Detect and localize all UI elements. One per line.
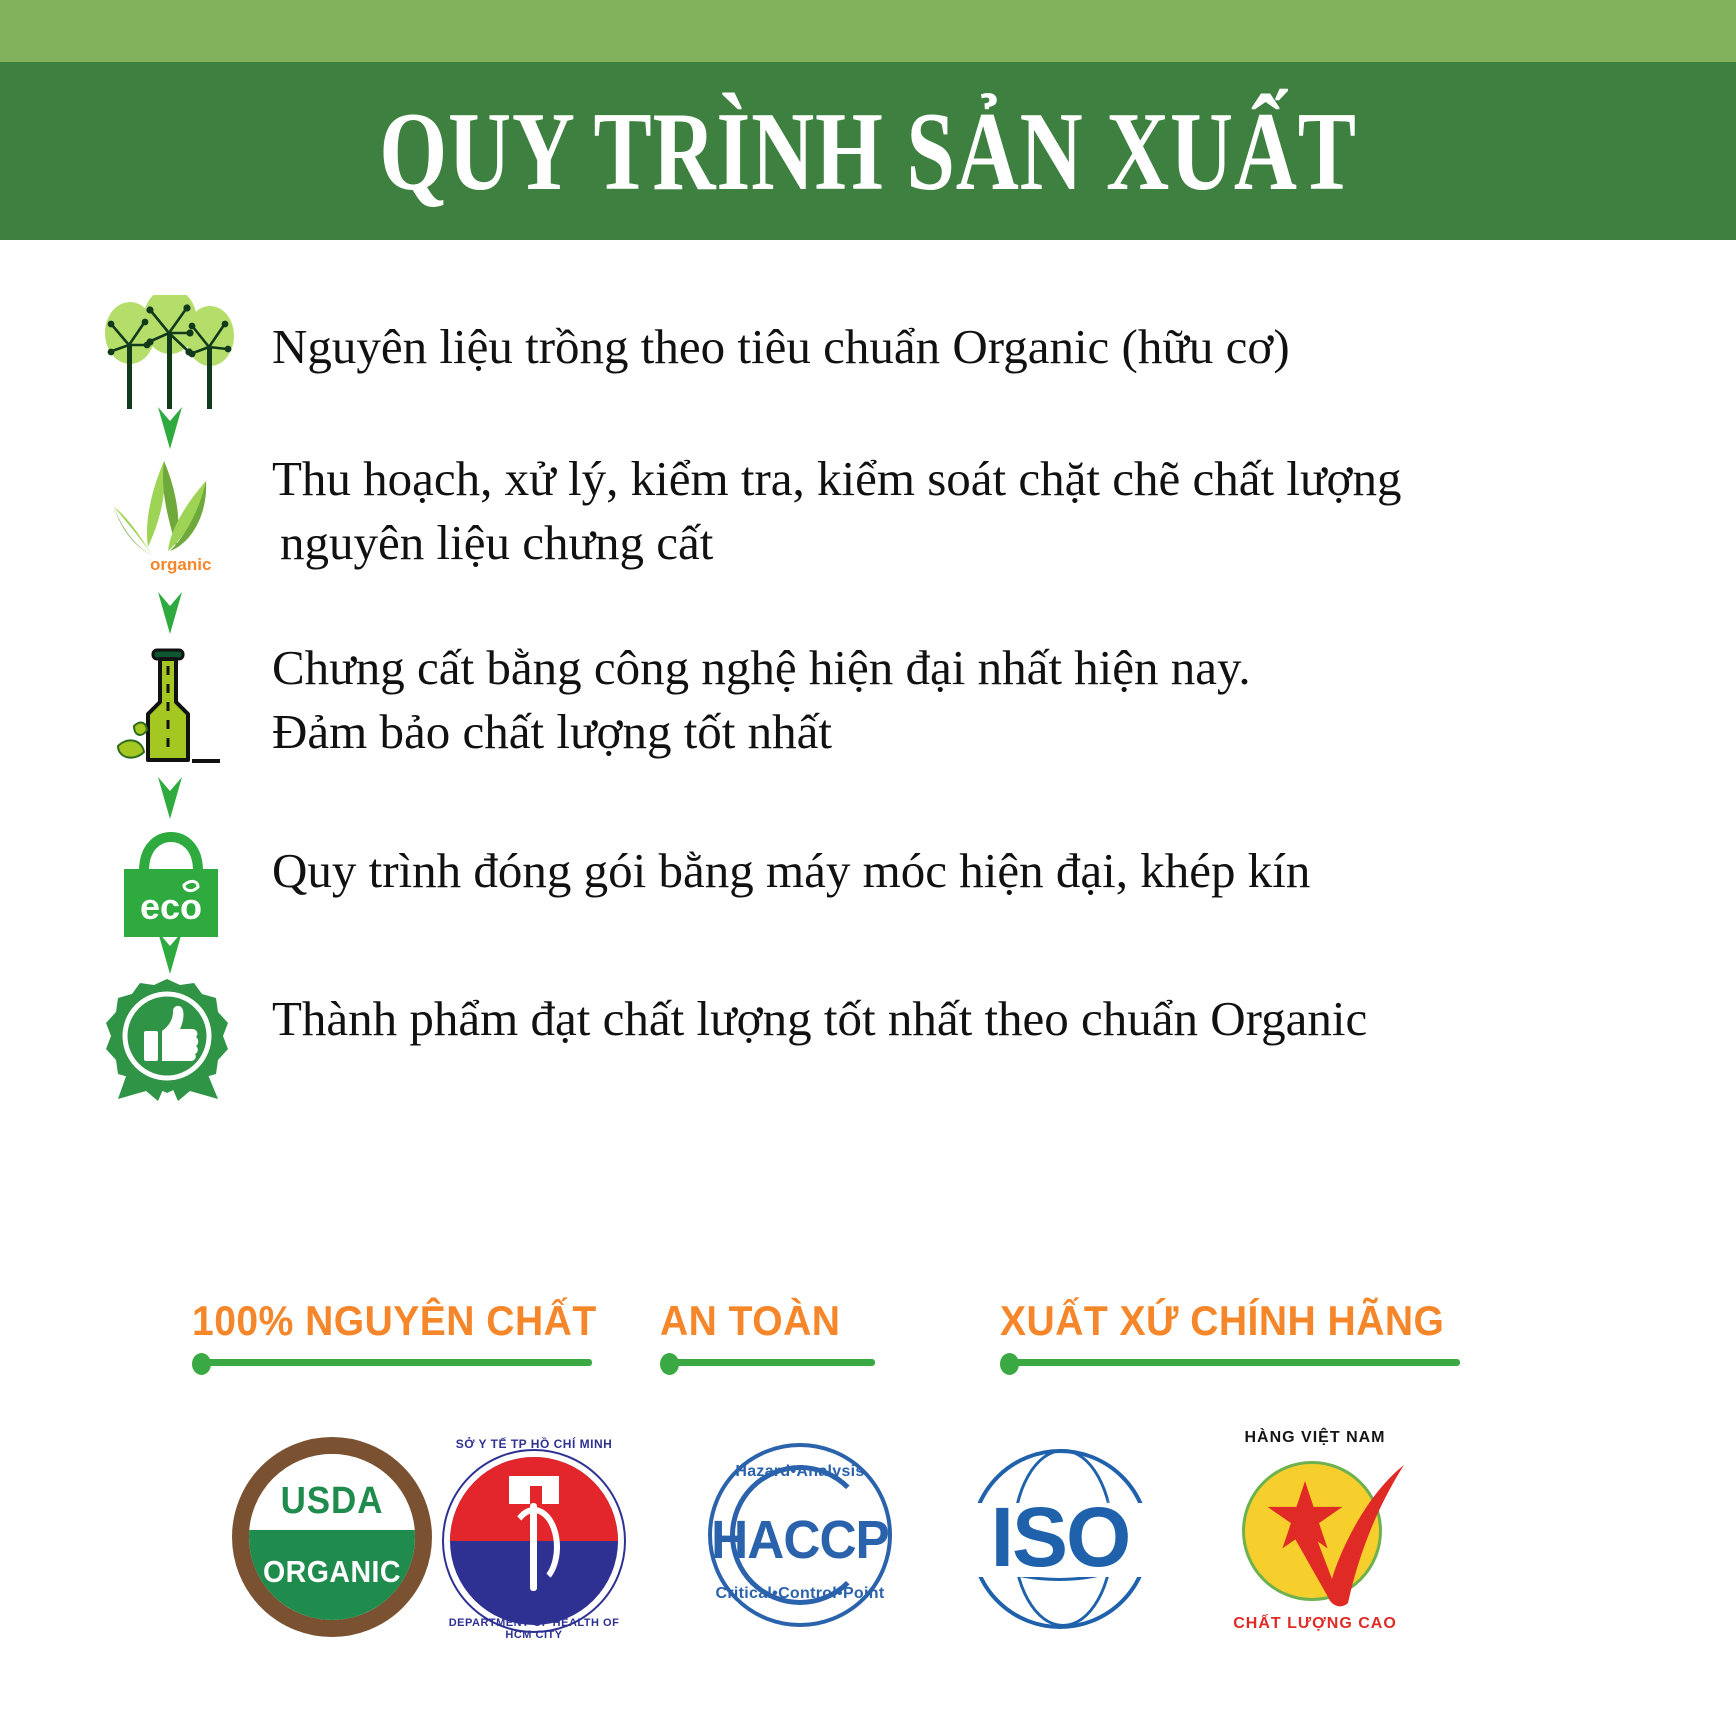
process-step-3-line2: Đảm bảo chất lượng tốt nhất: [272, 700, 1672, 764]
iso-seal: ISO: [950, 1437, 1170, 1637]
feature-item-1: 100% NGUYÊN CHẤT: [192, 1295, 622, 1367]
haccp-text-bottom: Critical•Control•Point: [690, 1585, 910, 1603]
haccp-seal: Hazard•Analysis HACCP Critical•Control•P…: [690, 1435, 910, 1635]
feature-rule-2: [660, 1357, 910, 1367]
health-text-top: SỞ Y TẾ TP HỒ CHÍ MINH: [434, 1437, 634, 1451]
process-step-1-line1: Nguyên liệu trồng theo tiêu chuẩn Organi…: [272, 319, 1290, 374]
process-step-1-text: Nguyên liệu trồng theo tiêu chuẩn Organi…: [272, 315, 1672, 379]
svg-text:organic: organic: [150, 555, 211, 574]
three-trees-icon: [96, 295, 246, 415]
arrow-down-icon-3: [152, 775, 188, 823]
arrow-down-icon-2: [152, 590, 188, 638]
feature-label-2: AN TOÀN: [660, 1295, 893, 1347]
haccp-word: HACCP: [696, 1509, 905, 1571]
process-step-2-text: Thu hoạch, xử lý, kiểm tra, kiểm soát ch…: [272, 447, 1672, 575]
arrow-down-icon-4: [152, 930, 188, 978]
hcm-department-of-health-logo: SỞ Y TẾ TP HỒ CHÍ MINH DEPARTMENT OF HEA…: [434, 1435, 634, 1635]
feature-rule-3: [1000, 1357, 1500, 1367]
health-text-bottom: DEPARTMENT OF HEALTH OF HCM CITY: [434, 1617, 634, 1641]
process-step-4-text: Quy trình đóng gói bằng máy móc hiện đại…: [272, 839, 1672, 903]
feature-rule-1: [192, 1357, 622, 1367]
hcm-health-seal: SỞ Y TẾ TP HỒ CHÍ MINH DEPARTMENT OF HEA…: [434, 1435, 634, 1635]
feature-item-2: AN TOÀN: [660, 1295, 910, 1367]
usda-organic-seal: USDA ORGANIC: [232, 1437, 432, 1637]
eco-bag-icon: eco: [96, 825, 246, 945]
usda-word-bottom: ORGANIC: [256, 1554, 409, 1590]
hvnclc-text-bottom: CHẤT LƯỢNG CAO: [1200, 1615, 1430, 1633]
svg-text:eco: eco: [140, 886, 202, 927]
red-checkmark-icon: [1284, 1453, 1412, 1613]
usda-organic-logo: USDA ORGANIC: [232, 1437, 432, 1637]
feature-item-3: XUẤT XỨ CHÍNH HÃNG: [1000, 1295, 1500, 1367]
usda-word-top: USDA: [256, 1480, 409, 1523]
process-step-3-line1: Chưng cất bằng công nghệ hiện đại nhất h…: [272, 640, 1251, 695]
process-step-3-text: Chưng cất bằng công nghệ hiện đại nhất h…: [272, 636, 1672, 764]
iso-word: ISO: [950, 1489, 1170, 1586]
hang-viet-nam-chat-luong-cao-logo: HÀNG VIỆT NAM CHẤT LƯỢNG CAO: [1200, 1425, 1430, 1640]
iso-logo: ISO: [950, 1437, 1170, 1637]
green-bottle-icon: [96, 640, 246, 760]
feature-rule-bar-2: [670, 1359, 875, 1366]
process-step-2-line1: Thu hoạch, xử lý, kiểm tra, kiểm soát ch…: [272, 451, 1401, 506]
feature-rule-bar-1: [202, 1359, 592, 1366]
health-gate-emblem: [506, 1473, 562, 1507]
feature-rule-dot-3: [1000, 1353, 1019, 1375]
haccp-logo: Hazard•Analysis HACCP Critical•Control•P…: [690, 1435, 910, 1635]
feature-rule-dot-2: [660, 1353, 679, 1375]
hvnclc-seal: HÀNG VIỆT NAM CHẤT LƯỢNG CAO: [1200, 1425, 1430, 1640]
feature-label-1: 100% NGUYÊN CHẤT: [192, 1295, 592, 1347]
asclepius-snake-icon: [508, 1507, 560, 1587]
organic-leaves-icon: organic: [96, 455, 246, 575]
arrow-down-icon-1: [152, 405, 188, 453]
haccp-text-top: Hazard•Analysis: [690, 1463, 910, 1481]
feature-rule-dot-1: [192, 1353, 211, 1375]
hvnclc-text-top: HÀNG VIỆT NAM: [1200, 1429, 1430, 1447]
feature-rule-bar-3: [1010, 1359, 1460, 1366]
certification-logos: USDA ORGANIC SỞ Y TẾ TP HỒ CHÍ MINH DEPA…: [0, 1425, 1736, 1675]
process-step-4-line1: Quy trình đóng gói bằng máy móc hiện đại…: [272, 843, 1310, 898]
process-step-2-line2: nguyên liệu chưng cất: [272, 511, 1672, 575]
infographic-page: QUY TRÌNH SẢN XUẤT: [0, 0, 1736, 1724]
quality-badge-thumbsup-icon: [100, 973, 250, 1093]
feature-label-3: XUẤT XỨ CHÍNH HÃNG: [1000, 1295, 1465, 1347]
feature-highlights: 100% NGUYÊN CHẤT AN TOÀN XUẤT XỨ CHÍNH H…: [0, 1295, 1736, 1405]
header-top-band: [0, 0, 1736, 62]
page-title: QUY TRÌNH SẢN XUẤT: [191, 92, 1545, 212]
process-step-5-line1: Thành phẩm đạt chất lượng tốt nhất theo …: [272, 991, 1367, 1046]
process-step-5-text: Thành phẩm đạt chất lượng tốt nhất theo …: [272, 987, 1672, 1051]
